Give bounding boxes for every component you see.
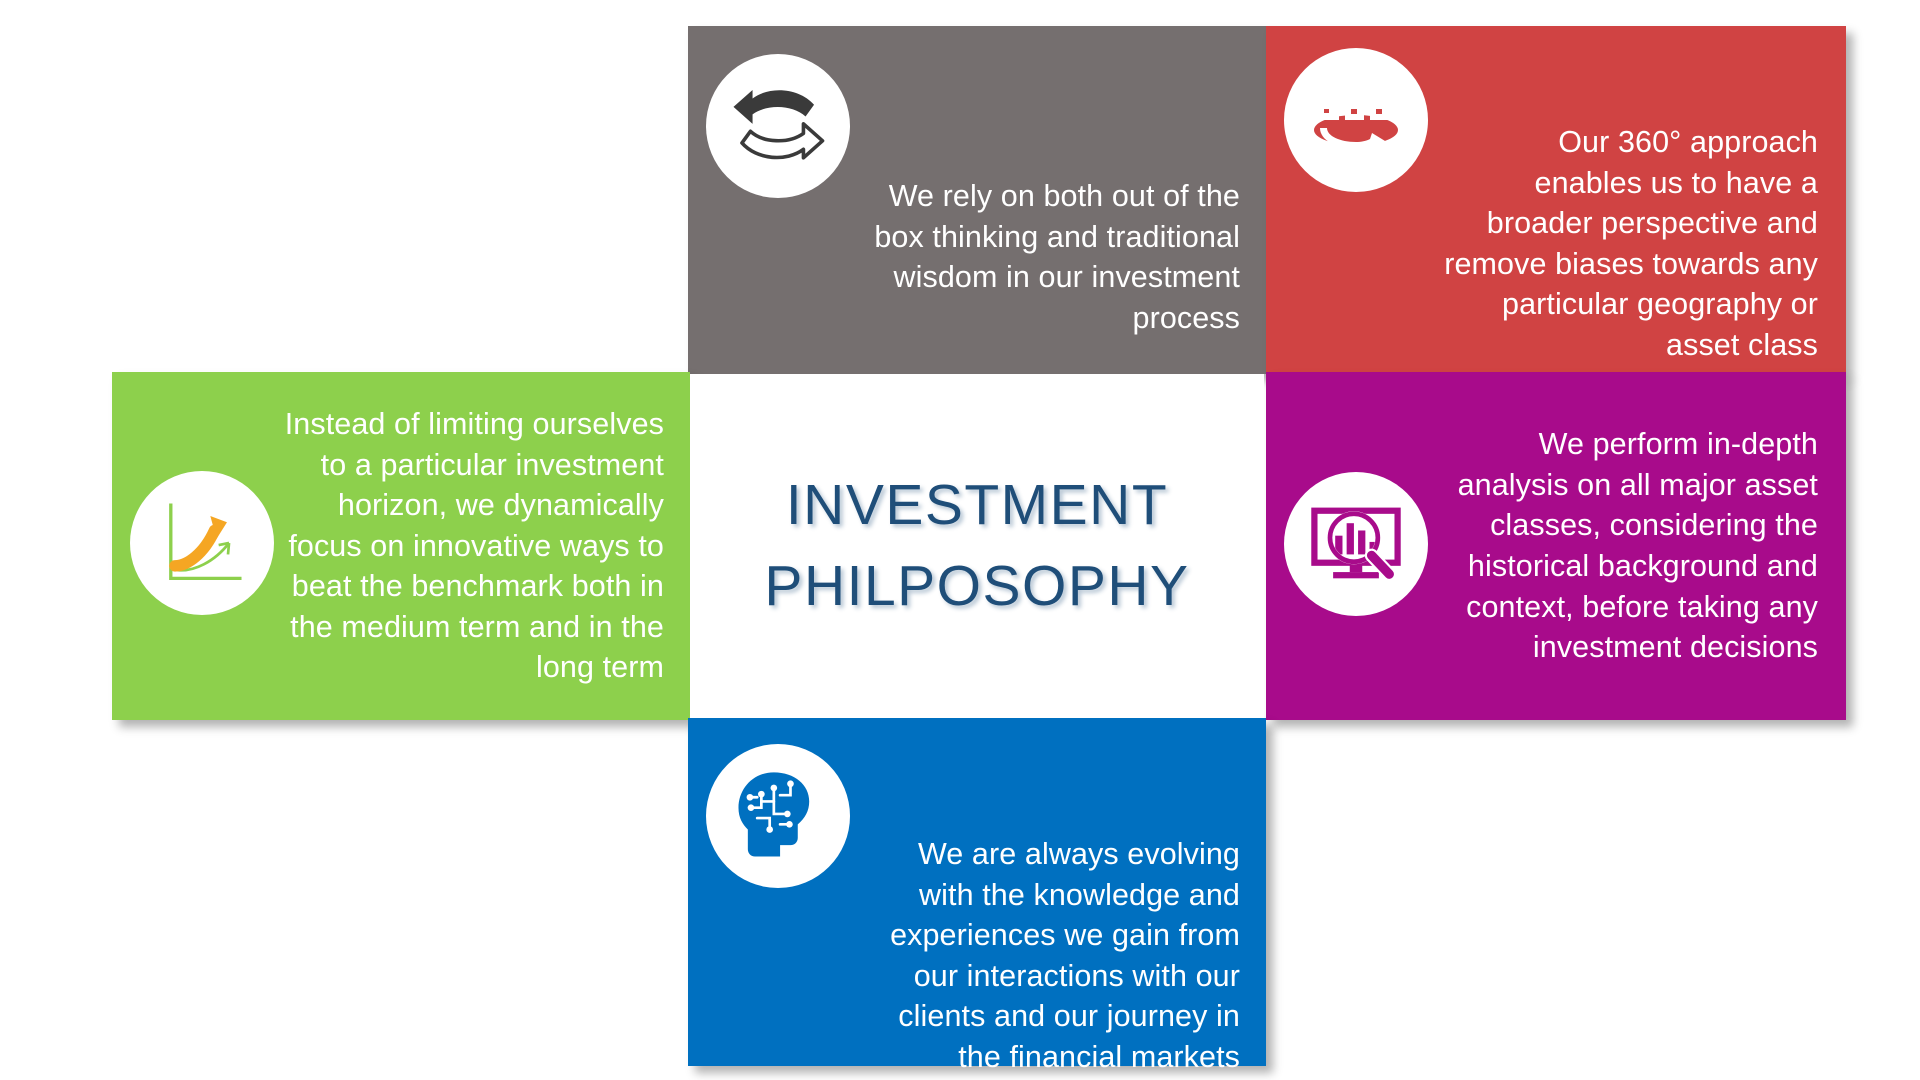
two-arrows-exchange-icon [725,73,831,179]
icon-badge-green [130,471,274,615]
page-title-line-1: INVESTMENT [786,465,1168,546]
monitor-bar-chart-magnifier-icon [1304,492,1408,596]
card-green-text: Instead of limiting ourselves to a parti… [274,404,664,688]
icon-badge-blue [706,744,850,888]
card-out-of-the-box-thinking[interactable]: We rely on both out of the box thinking … [688,26,1266,374]
360-degree-icon [1300,64,1412,176]
center-title-panel: INVESTMENT PHILPOSOPHY [690,374,1264,718]
card-purple-text: We perform in-depth analysis on all majo… [1428,424,1818,667]
page-title-line-2: PHILPOSOPHY [764,546,1189,627]
infographic-canvas: We rely on both out of the box thinking … [0,0,1920,1080]
card-investment-horizon[interactable]: Instead of limiting ourselves to a parti… [112,372,690,720]
card-always-evolving[interactable]: We are always evolving with the knowledg… [688,718,1266,1066]
card-blue-text: We are always evolving with the knowledg… [850,834,1240,1077]
card-in-depth-analysis[interactable]: We perform in-depth analysis on all majo… [1266,372,1846,720]
icon-badge-grey [706,54,850,198]
card-360-approach[interactable]: Our 360° approach enables us to have a b… [1266,26,1846,374]
icon-badge-purple [1284,472,1428,616]
icon-badge-red [1284,48,1428,192]
growth-chart-arrow-icon [150,491,254,595]
head-circuit-brain-icon [726,764,830,868]
card-grey-text: We rely on both out of the box thinking … [850,176,1240,338]
card-red-text: Our 360° approach enables us to have a b… [1428,122,1818,365]
